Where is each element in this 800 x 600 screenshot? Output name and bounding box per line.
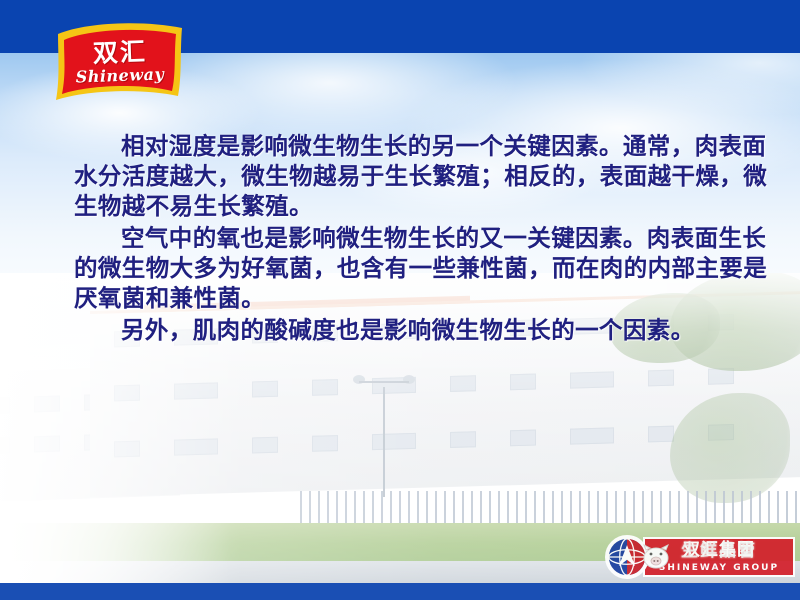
shineway-group-badge: 双汇集团 SHINEWAY GROUP [605, 534, 795, 580]
paragraph-3: 另外，肌肉的酸碱度也是影响微生物生长的一个因素。 [74, 315, 780, 345]
paragraph-1: 相对湿度是影响微生物生长的另一个关键因素。通常，肉表面水分活度越大，微生物越易于… [74, 131, 780, 221]
shineway-logo: 双汇 Shineway [52, 20, 188, 104]
badge-overlay-text: 生鲜品管 [659, 543, 779, 560]
presentation-slide: 双汇 Shineway 相对湿度是影响微生物生长的另一个关键因素。通常，肉表面水… [0, 0, 800, 600]
slide-body-text: 相对湿度是影响微生物生长的另一个关键因素。通常，肉表面水分活度越大，微生物越易于… [74, 131, 780, 345]
bottom-blue-bar [0, 583, 800, 600]
paragraph-2: 空气中的氧也是影响微生物生长的又一关键因素。肉表面生长的微生物大多为好氧菌，也含… [74, 223, 780, 313]
